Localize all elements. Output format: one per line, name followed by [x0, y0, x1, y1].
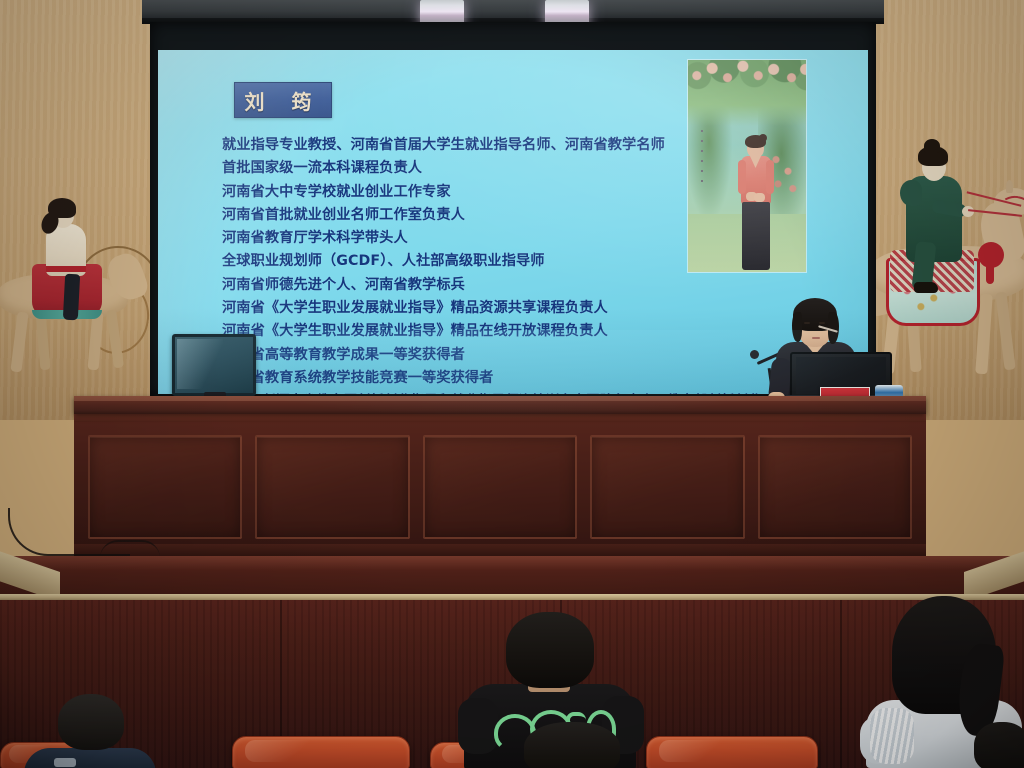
photo-person	[738, 138, 774, 272]
audience-member-left	[24, 694, 156, 768]
stage-gloss	[0, 556, 1024, 570]
projection-screen: 刘 筠 就业指导专业教授、河南省首届大学生就业指导名师、河南省教学名师 首批国家…	[158, 50, 868, 394]
mural-left-rider	[0, 0, 160, 420]
audience-member-far-right	[972, 722, 1024, 768]
audience-member-front	[524, 722, 620, 768]
lecture-hall-scene: 刘 筠 就业指导专业教授、河南省首届大学生就业指导名师、河南省教学名师 首批国家…	[0, 0, 1024, 768]
slide-name-badge: 刘 筠	[234, 82, 332, 118]
podium-panel	[255, 435, 409, 539]
auditorium-seat[interactable]	[232, 736, 410, 768]
projection-screen-frame: 刘 筠 就业指导专业教授、河南省首届大学生就业指导名师、河南省教学名师 首批国家…	[150, 22, 876, 396]
mural-horse-right	[874, 150, 1024, 380]
podium-lip	[74, 414, 926, 422]
slide-line-obscured: 评审、任河南省教育厅创新创业指导和就业指导师资培训专家团队负责人，教育部创新创业	[222, 390, 850, 394]
slide-portrait-photo	[688, 60, 806, 272]
podium-panel	[590, 435, 744, 539]
slide-line: 河南省《大学生职业发展就业指导》精品资源共享课程负责人	[222, 297, 850, 320]
podium-monitor	[172, 334, 256, 396]
mural-horse-left	[0, 250, 160, 400]
podium-panels	[74, 430, 926, 542]
microphone-icon	[750, 350, 759, 359]
stage-seam	[840, 600, 842, 768]
podium-panel	[758, 435, 912, 539]
auditorium-seat[interactable]	[646, 736, 818, 768]
mural-right-rider	[874, 0, 1024, 420]
podium-desktop-sheen	[74, 396, 926, 401]
slide-line: 河南省《大学生职业发展就业指导》精品在线开放课程负责人	[222, 320, 850, 343]
slide-line: 河南省教育系统教学技能竞赛一等奖获得者	[222, 367, 850, 390]
slide-line: 河南省师德先进个人、河南省教学标兵	[222, 274, 850, 297]
podium-panel	[423, 435, 577, 539]
